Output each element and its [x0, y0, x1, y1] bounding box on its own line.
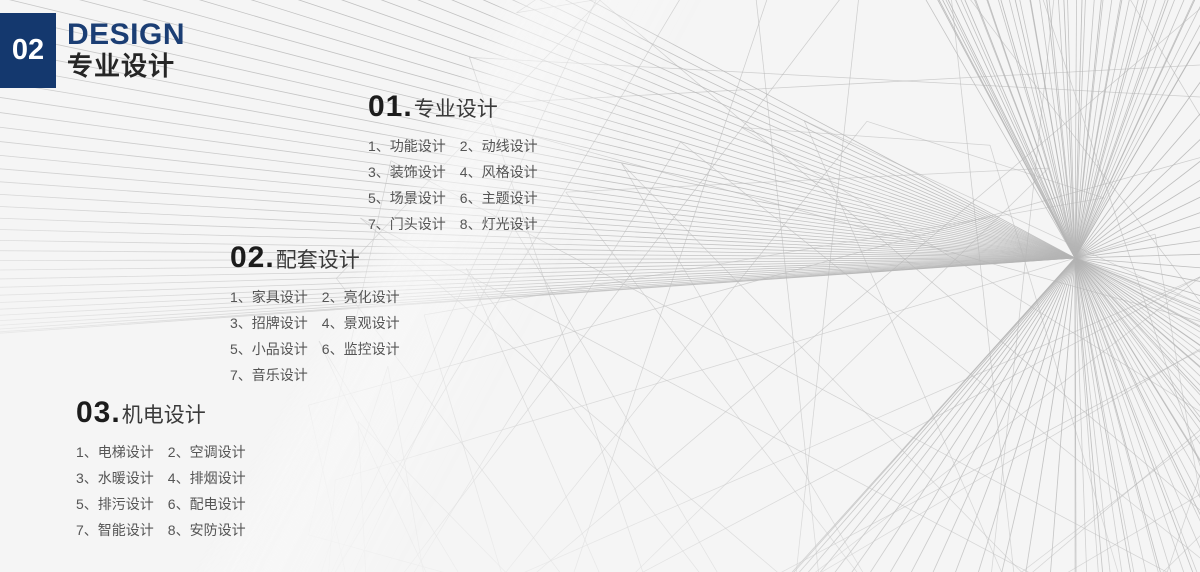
list-item: 8、安防设计	[168, 520, 246, 541]
list-item: 6、主题设计	[460, 188, 538, 209]
list-item: 1、功能设计	[368, 136, 446, 157]
section-01-title: 01.专业设计	[368, 92, 538, 122]
list-item: 7、智能设计	[76, 520, 154, 541]
list-item: 4、排烟设计	[168, 468, 246, 489]
list-item: 7、音乐设计	[230, 365, 308, 386]
list-item: 5、小品设计	[230, 339, 308, 360]
section-03-number: 03.	[76, 396, 121, 429]
section-01-number: 01.	[368, 90, 413, 123]
section-02: 02.配套设计 1、家具设计 2、亮化设计 3、招牌设计 4、景观设计 5、小品…	[230, 243, 400, 386]
section-01-name: 专业设计	[414, 98, 498, 121]
list-item: 3、装饰设计	[368, 162, 446, 183]
list-item: 2、空调设计	[168, 442, 246, 463]
section-01-item-list: 1、功能设计 2、动线设计 3、装饰设计 4、风格设计 5、场景设计 6、主题设…	[368, 136, 538, 235]
list-item: 4、景观设计	[322, 313, 400, 334]
page-title-cn: 专业设计	[67, 52, 185, 81]
badge-number: 02	[12, 36, 44, 65]
list-item: 4、风格设计	[460, 162, 538, 183]
section-02-title: 02.配套设计	[230, 243, 400, 273]
section-03-item-list: 1、电梯设计 2、空调设计 3、水暖设计 4、排烟设计 5、排污设计 6、配电设…	[76, 442, 246, 541]
list-item: 6、监控设计	[322, 339, 400, 360]
section-02-name: 配套设计	[276, 249, 360, 272]
list-item: 7、门头设计	[368, 214, 446, 235]
section-02-number: 02.	[230, 241, 275, 274]
section-number-badge: 02	[0, 13, 56, 88]
list-item: 2、亮化设计	[322, 287, 400, 308]
section-03-title: 03.机电设计	[76, 398, 246, 428]
slide-header: 02 DESIGN 专业设计	[0, 13, 185, 88]
page-title-en: DESIGN	[67, 20, 185, 51]
list-item: 5、场景设计	[368, 188, 446, 209]
slide-canvas: 02 DESIGN 专业设计 01.专业设计 1、功能设计 2、动线设计 3、装…	[0, 0, 1200, 572]
list-item: 2、动线设计	[460, 136, 538, 157]
section-03: 03.机电设计 1、电梯设计 2、空调设计 3、水暖设计 4、排烟设计 5、排污…	[76, 398, 246, 541]
list-item: 3、水暖设计	[76, 468, 154, 489]
section-01: 01.专业设计 1、功能设计 2、动线设计 3、装饰设计 4、风格设计 5、场景…	[368, 92, 538, 235]
section-02-item-list: 1、家具设计 2、亮化设计 3、招牌设计 4、景观设计 5、小品设计 6、监控设…	[230, 287, 400, 386]
section-03-name: 机电设计	[122, 404, 206, 427]
list-item: 5、排污设计	[76, 494, 154, 515]
list-item: 6、配电设计	[168, 494, 246, 515]
list-item: 3、招牌设计	[230, 313, 308, 334]
list-item: 1、家具设计	[230, 287, 308, 308]
header-title-group: DESIGN 专业设计	[67, 13, 185, 88]
list-item: 1、电梯设计	[76, 442, 154, 463]
list-item: 8、灯光设计	[460, 214, 538, 235]
